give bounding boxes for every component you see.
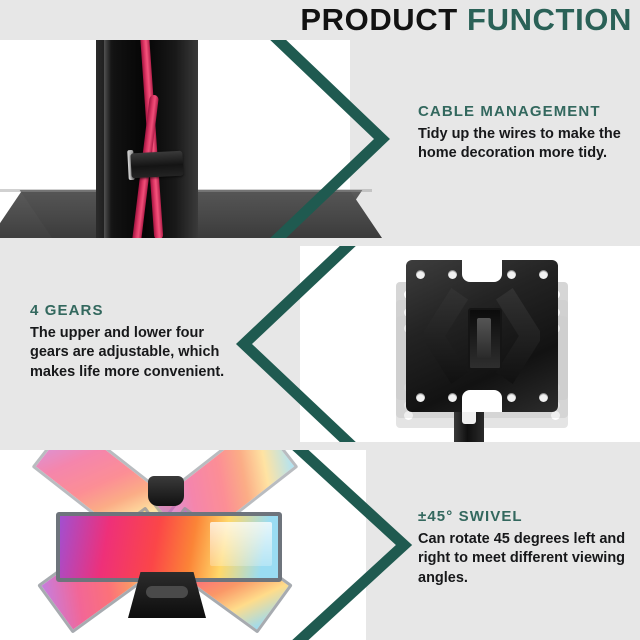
swivel-screens-illustration <box>40 454 290 636</box>
body-45-swivel-line-3: angles. <box>418 569 633 588</box>
page-header: PRODUCT FUNCTION <box>0 0 640 38</box>
body-cable-management-line-2: home decoration more tidy. <box>418 144 628 163</box>
vesa-plate <box>406 260 558 412</box>
text-block-cable-management: CABLE MANAGEMENT Tidy up the wires to ma… <box>418 103 628 164</box>
plate-arm-right <box>496 288 540 384</box>
plate-arm-left <box>424 288 468 384</box>
swivel-hub <box>148 476 184 506</box>
body-4-gears-line-2: gears are adjustable, which <box>30 343 245 362</box>
plate-notch-bottom <box>462 390 502 412</box>
heading-4-gears: 4 GEARS <box>30 302 245 319</box>
body-4-gears-line-3: makes life more convenient. <box>30 363 245 382</box>
pole-highlight <box>104 40 111 238</box>
body-cable-management-line-1: Tidy up the wires to make the <box>418 125 628 144</box>
title-word-function: FUNCTION <box>467 2 632 37</box>
glass-base-right <box>20 190 382 238</box>
vesa-bracket-illustration <box>392 252 572 436</box>
text-block-4-gears: 4 GEARS The upper and lower four gears a… <box>30 302 245 382</box>
plate-center-slot <box>468 308 502 370</box>
plate-notch-top <box>462 260 502 282</box>
body-45-swivel-line-2: right to meet different viewing <box>418 549 633 568</box>
heading-45-swivel: ±45° SWIVEL <box>418 508 633 525</box>
product-function-infographic: PRODUCT FUNCTION <box>0 0 640 640</box>
body-4-gears-line-1: The upper and lower four <box>30 324 245 343</box>
cable-clip <box>130 151 183 179</box>
screen-center-front <box>56 512 282 582</box>
page-title: PRODUCT FUNCTION <box>300 4 632 35</box>
title-word-product: PRODUCT <box>300 2 457 37</box>
heading-cable-management: CABLE MANAGEMENT <box>418 103 628 120</box>
body-45-swivel-line-1: Can rotate 45 degrees left and <box>418 530 633 549</box>
cable-management-illustration <box>0 40 372 238</box>
stand-foot <box>128 572 206 618</box>
text-block-45-swivel: ±45° SWIVEL Can rotate 45 degrees left a… <box>418 508 633 588</box>
